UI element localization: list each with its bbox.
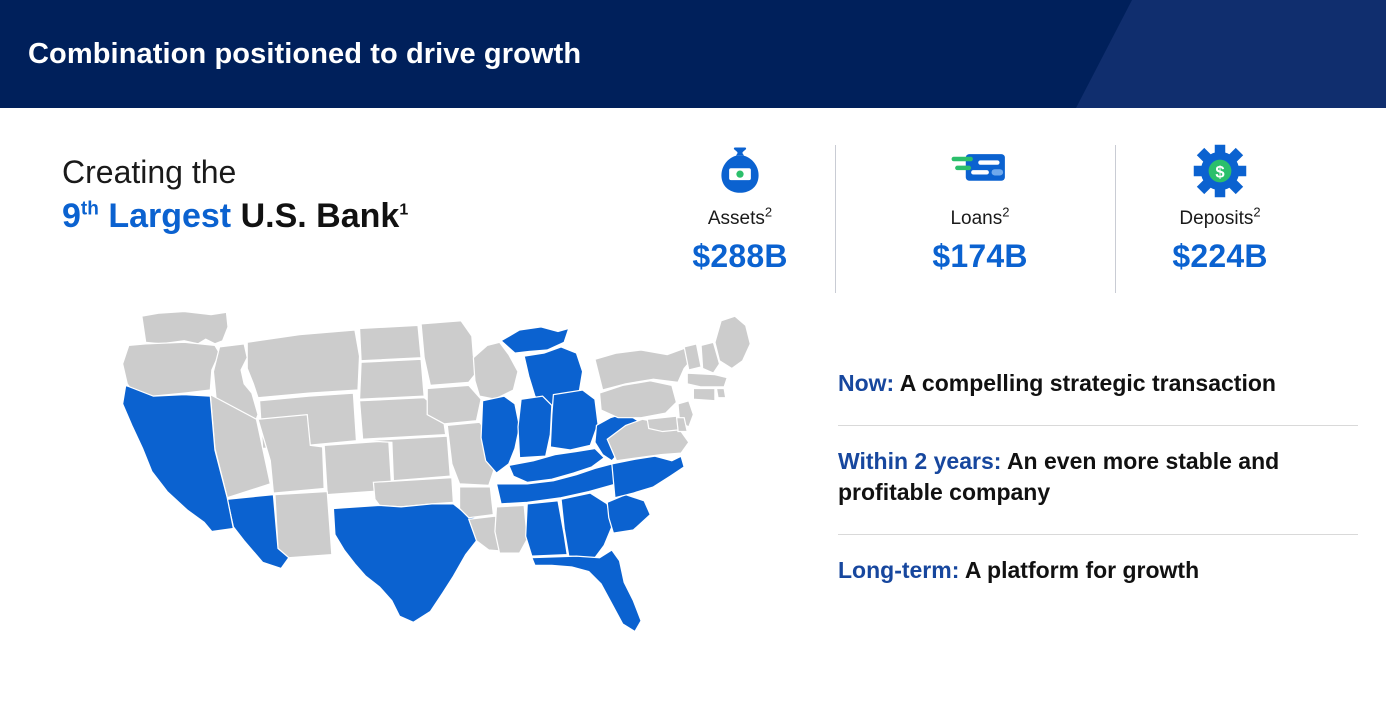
stat-footnote: 2 bbox=[765, 205, 772, 220]
state-ND bbox=[360, 325, 422, 360]
slide-header: Combination positioned to drive growth bbox=[0, 0, 1386, 108]
money-bag-icon bbox=[620, 140, 860, 202]
point-lead: Long-term: bbox=[838, 557, 959, 583]
stat-label: Loans2 bbox=[860, 208, 1100, 230]
stat-footnote: 2 bbox=[1002, 205, 1009, 220]
point-divider bbox=[838, 534, 1358, 535]
point-lead: Within 2 years: bbox=[838, 448, 1001, 474]
state-WA bbox=[142, 312, 228, 344]
rank-word: Largest bbox=[108, 197, 231, 235]
stat-footnote: 2 bbox=[1253, 205, 1260, 220]
stat-value: $288B bbox=[620, 238, 860, 275]
state-IA bbox=[427, 385, 481, 423]
stat-divider-1 bbox=[835, 145, 836, 293]
stat-label: Deposits2 bbox=[1100, 208, 1340, 230]
stat-label: Assets2 bbox=[620, 208, 860, 230]
credit-card-icon bbox=[860, 140, 1100, 202]
headline-line-1: Creating the bbox=[62, 152, 622, 192]
state-MD bbox=[647, 416, 678, 431]
page-title: Combination positioned to drive growth bbox=[28, 38, 581, 71]
svg-text:$: $ bbox=[1215, 163, 1224, 182]
state-MT bbox=[247, 330, 359, 398]
point-body: A compelling strategic transaction bbox=[894, 370, 1276, 396]
headline-line-2: 9th Largest U.S. Bank1 bbox=[62, 194, 622, 238]
state-FL bbox=[532, 550, 641, 632]
key-points-list: Now: A compelling strategic transaction … bbox=[838, 368, 1358, 600]
headline-tail: U.S. Bank bbox=[241, 197, 400, 235]
state-ME bbox=[715, 316, 750, 368]
state-WI bbox=[473, 342, 518, 399]
state-TX bbox=[333, 504, 490, 622]
rank-number: 9 bbox=[62, 197, 81, 235]
state-MN bbox=[421, 321, 481, 386]
state-AL bbox=[526, 501, 568, 556]
stat-value: $174B bbox=[860, 238, 1100, 275]
state-NC bbox=[612, 456, 684, 498]
state-OK bbox=[373, 478, 453, 507]
slide-canvas: Combination positioned to drive growth C… bbox=[0, 0, 1386, 718]
stat-value: $224B bbox=[1100, 238, 1340, 275]
list-item: Long-term: A platform for growth bbox=[838, 555, 1358, 600]
state-AR bbox=[460, 487, 494, 518]
stat-row: Assets2 $288B Loans2 $174B bbox=[620, 140, 1360, 298]
point-body: A platform for growth bbox=[959, 557, 1199, 583]
headline-block: Creating the 9th Largest U.S. Bank1 bbox=[62, 152, 622, 238]
state-SD bbox=[360, 359, 425, 399]
stat-assets: Assets2 $288B bbox=[620, 140, 860, 275]
stat-divider-2 bbox=[1115, 145, 1116, 293]
state-RI bbox=[716, 388, 725, 397]
list-item: Now: A compelling strategic transaction bbox=[838, 368, 1358, 413]
state-CT bbox=[693, 388, 715, 400]
state-OH bbox=[550, 390, 598, 450]
point-divider bbox=[838, 425, 1358, 426]
point-lead: Now: bbox=[838, 370, 894, 396]
state-MA bbox=[687, 373, 727, 387]
state-NM bbox=[275, 492, 332, 558]
state-IN bbox=[518, 396, 552, 458]
footnote-marker: 1 bbox=[399, 202, 408, 219]
state-SC bbox=[607, 495, 650, 533]
us-footprint-map bbox=[58, 310, 818, 710]
state-GA bbox=[561, 493, 612, 558]
rank-suffix: th bbox=[81, 199, 99, 220]
stat-loans: Loans2 $174B bbox=[860, 140, 1100, 275]
stat-deposits: $ Deposits2 $224B bbox=[1100, 140, 1340, 275]
state-MS bbox=[495, 505, 527, 553]
gear-dollar-icon: $ bbox=[1100, 140, 1340, 202]
list-item: Within 2 years: An even more stable and … bbox=[838, 446, 1358, 522]
state-IL bbox=[481, 396, 519, 473]
